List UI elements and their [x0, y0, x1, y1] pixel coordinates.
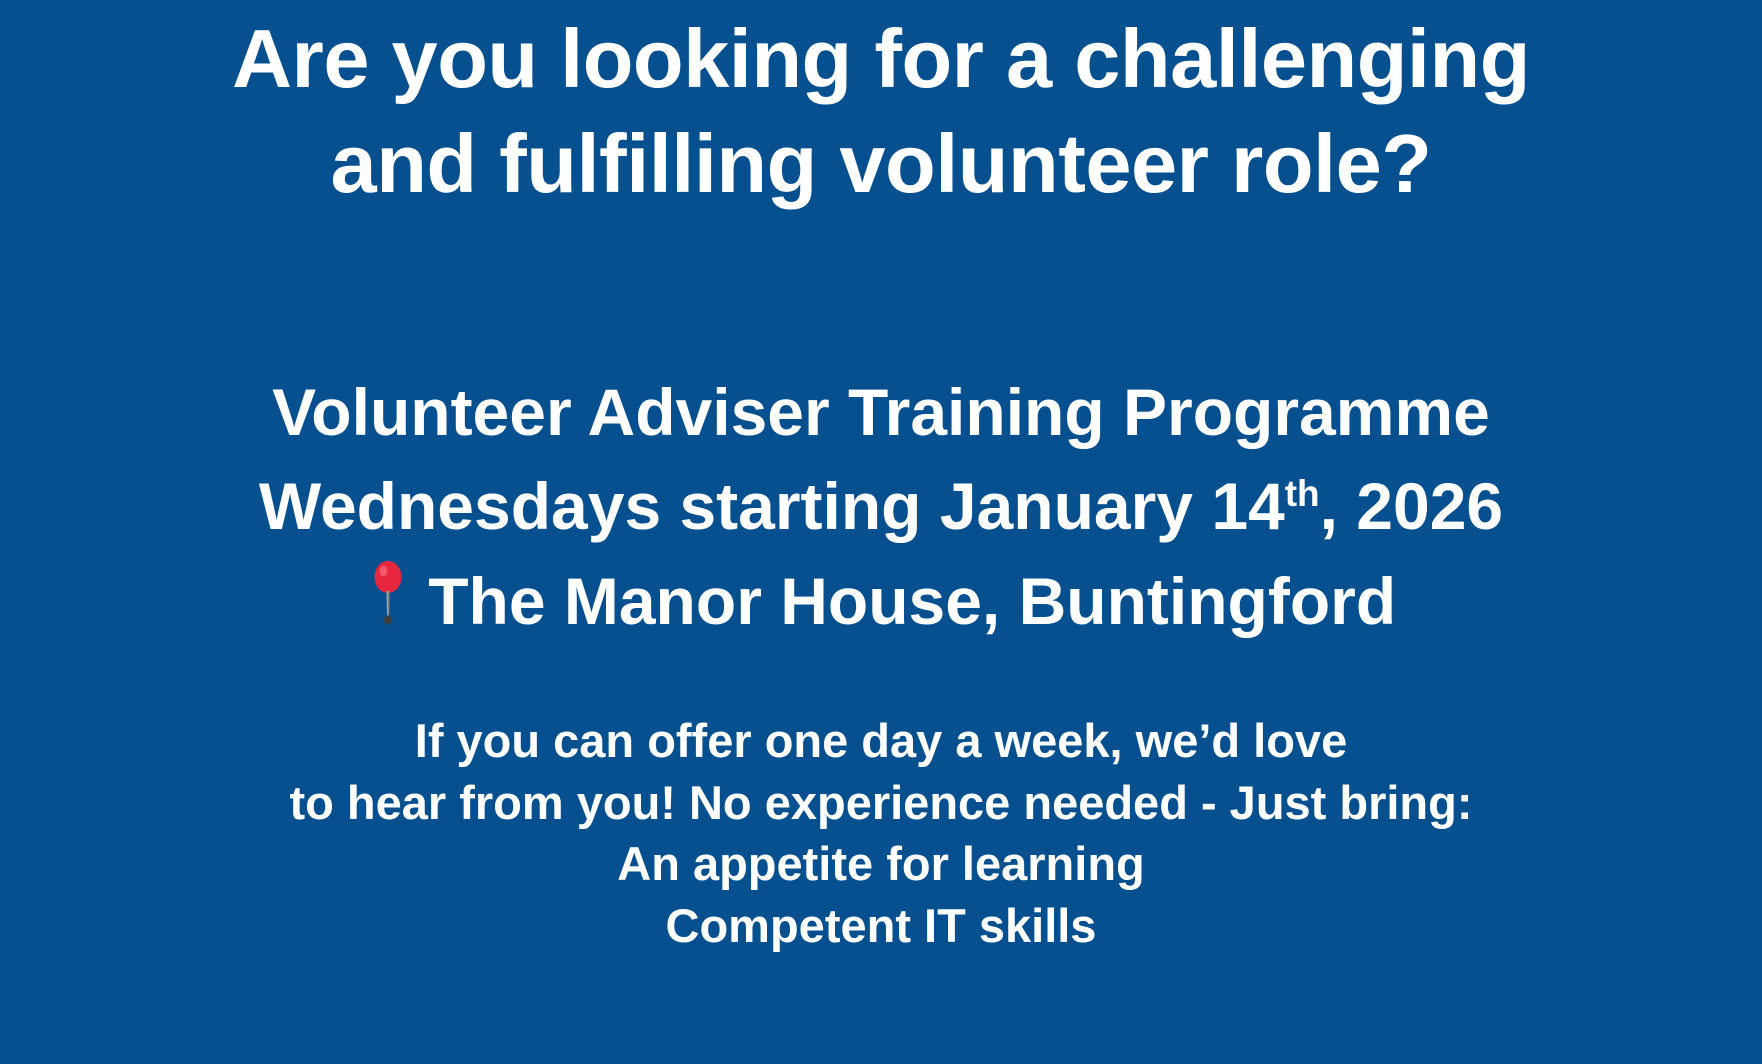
location-pin-icon: [366, 560, 410, 626]
poster-details: Volunteer Adviser Training Programme Wed…: [101, 365, 1661, 648]
venue-line: The Manor House, Buntingford: [101, 554, 1661, 648]
body-line-4: Competent IT skills: [181, 895, 1581, 957]
poster-body-copy: If you can offer one day a week, we’d lo…: [181, 710, 1581, 956]
body-line-1: If you can offer one day a week, we’d lo…: [181, 710, 1581, 772]
body-line-3: An appetite for learning: [181, 833, 1581, 895]
schedule-year: , 2026: [1320, 469, 1504, 543]
body-line-2: to hear from you! No experience needed -…: [181, 772, 1581, 834]
headline-line-2: and fulfilling volunteer role?: [131, 111, 1631, 216]
schedule-prefix: Wednesdays starting January 14: [259, 469, 1285, 543]
headline-line-1: Are you looking for a challenging: [131, 6, 1631, 111]
schedule-line: Wednesdays starting January 14th, 2026: [101, 459, 1661, 553]
schedule-ordinal-suffix: th: [1285, 473, 1320, 514]
programme-title: Volunteer Adviser Training Programme: [101, 365, 1661, 459]
venue-label: The Manor House, Buntingford: [428, 564, 1396, 638]
volunteer-recruitment-poster: Are you looking for a challenging and fu…: [0, 0, 1762, 1064]
poster-headline: Are you looking for a challenging and fu…: [131, 6, 1631, 217]
